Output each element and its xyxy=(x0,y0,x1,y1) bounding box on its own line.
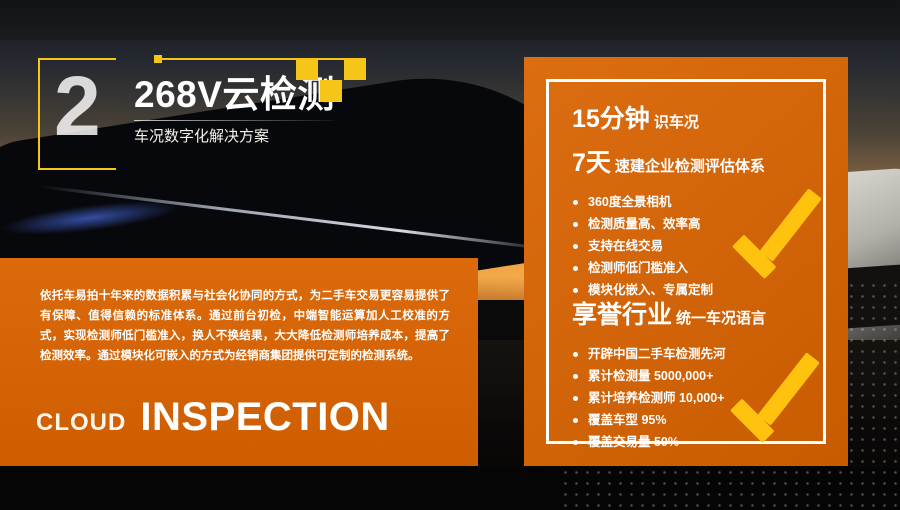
top-letterbox-bar xyxy=(0,0,900,40)
body-paragraph: 依托车易拍十年来的数据积累与社会化协同的方式，为二手车交易更容易提供了有保障、值… xyxy=(40,286,450,366)
checker-square-1 xyxy=(296,58,318,80)
brand-word-inspection: INSPECTION xyxy=(140,395,389,440)
title-block: 2 268V云检测 车况数字化解决方案 xyxy=(38,58,338,166)
title-separator xyxy=(134,120,334,121)
page-subtitle: 车况数字化解决方案 xyxy=(134,126,269,148)
checker-square-2 xyxy=(320,80,342,102)
checker-square-3 xyxy=(344,58,366,80)
section2-headline: 享誉行业 统一车况语言 xyxy=(572,295,806,331)
left-orange-panel: 依托车易拍十年来的数据积累与社会化协同的方式，为二手车交易更容易提供了有保障、值… xyxy=(0,258,478,466)
slide-number: 2 xyxy=(54,64,101,148)
section1-headline-2: 7天 速建企业检测评估体系 xyxy=(572,143,806,179)
brand-word-cloud: CLOUD xyxy=(36,409,126,437)
section2-headline-small: 统一车况语言 xyxy=(676,307,766,328)
slide-canvas: 2 268V云检测 车况数字化解决方案 依托车易拍十年来的数据积累与社会化协同的… xyxy=(0,0,900,510)
section1-headline2-small: 速建企业检测评估体系 xyxy=(615,155,765,176)
section2-headline-big: 享誉行业 xyxy=(572,295,672,331)
section1-headline: 15分钟 识车况 xyxy=(572,99,806,135)
checkmark-icon-1 xyxy=(736,196,832,268)
page-title: 268V云检测 xyxy=(134,74,335,116)
checkmark-icon-2 xyxy=(734,360,830,432)
section1-headline-big: 15分钟 xyxy=(572,99,650,135)
section1-headline-small: 识车况 xyxy=(654,111,699,132)
list-item: 覆盖交易量 50% xyxy=(572,433,806,452)
brand-lockup: CLOUD INSPECTION xyxy=(36,395,390,440)
title-accent-line xyxy=(158,58,348,60)
section1-headline2-big: 7天 xyxy=(572,143,611,179)
